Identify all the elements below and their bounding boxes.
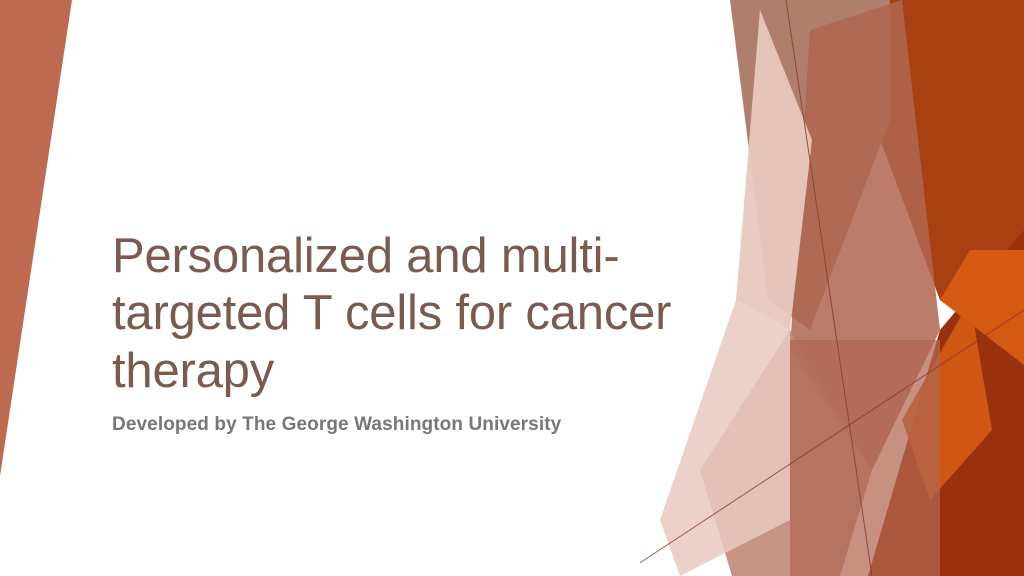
page-title: Personalized and multi-targeted T cells … <box>112 228 792 400</box>
accent-deep-brick <box>868 230 1024 576</box>
slide-subtitle: Developed by The George Washington Unive… <box>112 414 792 436</box>
accent-vivid-orange-2 <box>902 300 992 500</box>
left-accent-shape <box>0 0 130 576</box>
presentation-slide: Personalized and multi-targeted T cells … <box>0 0 1024 576</box>
title-text-block: Personalized and multi-targeted T cells … <box>112 228 792 436</box>
accent-orange-band <box>858 0 1024 360</box>
accent-clay-lower <box>790 340 940 576</box>
hairline-steep <box>786 0 872 576</box>
accent-vivid-orange <box>940 250 1024 365</box>
accent-rose-sweep <box>790 0 940 470</box>
